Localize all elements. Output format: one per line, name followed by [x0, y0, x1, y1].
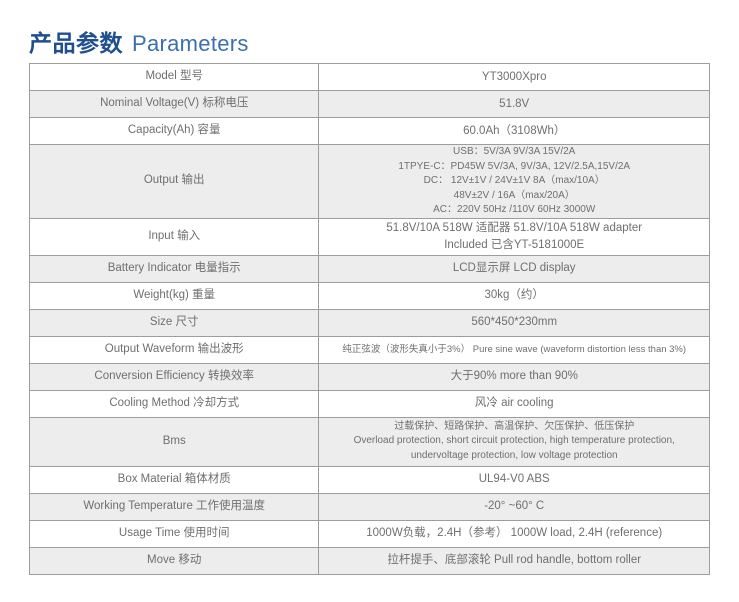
spec-label: Conversion Efficiency 转换效率 — [94, 370, 254, 382]
spec-label: Weight(kg) 重量 — [133, 289, 215, 301]
specifications-table-body: Model 型号 YT3000Xpro Nominal Voltage(V) 标… — [30, 64, 710, 575]
spec-value-cell: 560*450*230mm — [319, 309, 710, 336]
table-row: Box Material 箱体材质 UL94-V0 ABS — [30, 466, 710, 493]
spec-value-cell: LCD显示屏 LCD display — [319, 255, 710, 282]
table-row: Input 输入 51.8V/10A 518W 适配器 51.8V/10A 51… — [30, 218, 710, 255]
parameters-page: 产品参数 Parameters Model 型号 YT3000Xpro Nomi… — [0, 0, 739, 602]
table-row: Output 输出 USB：5V/3A 9V/3A 15V/2A 1TPYE-C… — [30, 145, 710, 219]
spec-value-cell: 大于90% more than 90% — [319, 363, 710, 390]
table-row: Working Temperature 工作使用温度 -20° ~60° C — [30, 493, 710, 520]
spec-value: 51.8V — [323, 96, 705, 113]
spec-value-cell: 过载保护、短路保护、高温保护、欠压保护、低压保护 Overload protec… — [319, 417, 710, 466]
spec-label-cell: Conversion Efficiency 转换效率 — [30, 363, 319, 390]
spec-label: Cooling Method 冷却方式 — [109, 397, 239, 409]
page-title-cn: 产品参数 — [29, 24, 123, 58]
table-row: Usage Time 使用时间 1000W负载，2.4H（参考） 1000W l… — [30, 520, 710, 547]
spec-value: YT3000Xpro — [323, 69, 705, 86]
spec-label-cell: Battery Indicator 电量指示 — [30, 255, 319, 282]
table-row: Model 型号 YT3000Xpro — [30, 64, 710, 91]
spec-value-cell: 51.8V — [319, 91, 710, 118]
table-row: Nominal Voltage(V) 标称电压 51.8V — [30, 91, 710, 118]
spec-label-cell: Capacity(Ah) 容量 — [30, 118, 319, 145]
spec-value-cell: 1000W负载，2.4H（参考） 1000W load, 2.4H (refer… — [319, 520, 710, 547]
spec-value: UL94-V0 ABS — [323, 471, 705, 488]
spec-value: 大于90% more than 90% — [323, 368, 705, 385]
spec-label-cell: Size 尺寸 — [30, 309, 319, 336]
spec-label: Model 型号 — [145, 70, 203, 82]
spec-label: Usage Time 使用时间 — [119, 527, 230, 539]
table-row: Bms 过载保护、短路保护、高温保护、欠压保护、低压保护 Overload pr… — [30, 417, 710, 466]
spec-label-cell: Model 型号 — [30, 64, 319, 91]
spec-label: Box Material 箱体材质 — [118, 473, 231, 485]
spec-label-cell: Weight(kg) 重量 — [30, 282, 319, 309]
table-row: Battery Indicator 电量指示 LCD显示屏 LCD displa… — [30, 255, 710, 282]
table-row: Move 移动 拉杆提手、底部滚轮 Pull rod handle, botto… — [30, 547, 710, 574]
spec-label: Output 输出 — [144, 174, 205, 186]
spec-label: Output Waveform 输出波形 — [105, 343, 244, 355]
spec-label-cell: Input 输入 — [30, 218, 319, 255]
spec-value: 1000W负载，2.4H（参考） 1000W load, 2.4H (refer… — [323, 525, 705, 542]
spec-value-cell: YT3000Xpro — [319, 64, 710, 91]
table-row: Output Waveform 输出波形 纯正弦波（波形失真小于3%） Pure… — [30, 336, 710, 363]
spec-value-cell: -20° ~60° C — [319, 493, 710, 520]
spec-value-cell: 纯正弦波（波形失真小于3%） Pure sine wave (waveform … — [319, 336, 710, 363]
specifications-table: Model 型号 YT3000Xpro Nominal Voltage(V) 标… — [29, 63, 710, 575]
spec-label-cell: Usage Time 使用时间 — [30, 520, 319, 547]
spec-label-cell: Cooling Method 冷却方式 — [30, 390, 319, 417]
spec-value-cell: 60.0Ah（3108Wh） — [319, 118, 710, 145]
spec-value: 过载保护、短路保护、高温保护、欠压保护、低压保护 Overload protec… — [323, 420, 705, 464]
table-row: Size 尺寸 560*450*230mm — [30, 309, 710, 336]
spec-label: Nominal Voltage(V) 标称电压 — [100, 97, 248, 109]
spec-label-cell: Working Temperature 工作使用温度 — [30, 493, 319, 520]
spec-value: USB：5V/3A 9V/3A 15V/2A 1TPYE-C：PD45W 5V/… — [323, 145, 705, 218]
spec-label: Move 移动 — [147, 554, 201, 566]
spec-value-cell: 30kg（约） — [319, 282, 710, 309]
spec-value: 纯正弦波（波形失真小于3%） Pure sine wave (waveform … — [342, 344, 686, 355]
spec-value: 风冷 air cooling — [323, 395, 705, 412]
spec-value: 560*450*230mm — [323, 314, 705, 331]
spec-value-cell: USB：5V/3A 9V/3A 15V/2A 1TPYE-C：PD45W 5V/… — [319, 145, 710, 219]
spec-label: Input 输入 — [148, 230, 200, 242]
table-row: Cooling Method 冷却方式 风冷 air cooling — [30, 390, 710, 417]
spec-value: LCD显示屏 LCD display — [323, 260, 705, 277]
table-row: Conversion Efficiency 转换效率 大于90% more th… — [30, 363, 710, 390]
spec-label: Bms — [163, 435, 186, 447]
spec-label-cell: Nominal Voltage(V) 标称电压 — [30, 91, 319, 118]
spec-value-cell: 拉杆提手、底部滚轮 Pull rod handle, bottom roller — [319, 547, 710, 574]
page-title: 产品参数 Parameters — [29, 24, 249, 58]
spec-label-cell: Output 输出 — [30, 145, 319, 219]
spec-value-cell: 风冷 air cooling — [319, 390, 710, 417]
spec-label: Capacity(Ah) 容量 — [128, 124, 221, 136]
spec-value: 30kg（约） — [323, 287, 705, 304]
spec-value: 51.8V/10A 518W 适配器 51.8V/10A 518W adapte… — [323, 220, 705, 253]
spec-label: Battery Indicator 电量指示 — [108, 262, 241, 274]
spec-label: Size 尺寸 — [150, 316, 199, 328]
spec-label: Working Temperature 工作使用温度 — [83, 500, 265, 512]
spec-value: -20° ~60° C — [323, 498, 705, 515]
table-row: Capacity(Ah) 容量 60.0Ah（3108Wh） — [30, 118, 710, 145]
spec-label-cell: Move 移动 — [30, 547, 319, 574]
spec-label-cell: Box Material 箱体材质 — [30, 466, 319, 493]
spec-value-cell: 51.8V/10A 518W 适配器 51.8V/10A 518W adapte… — [319, 218, 710, 255]
page-title-en: Parameters — [132, 31, 249, 57]
spec-label-cell: Output Waveform 输出波形 — [30, 336, 319, 363]
spec-label-cell: Bms — [30, 417, 319, 466]
table-row: Weight(kg) 重量 30kg（约） — [30, 282, 710, 309]
spec-value-cell: UL94-V0 ABS — [319, 466, 710, 493]
spec-value: 拉杆提手、底部滚轮 Pull rod handle, bottom roller — [323, 552, 705, 569]
spec-value: 60.0Ah（3108Wh） — [323, 123, 705, 140]
